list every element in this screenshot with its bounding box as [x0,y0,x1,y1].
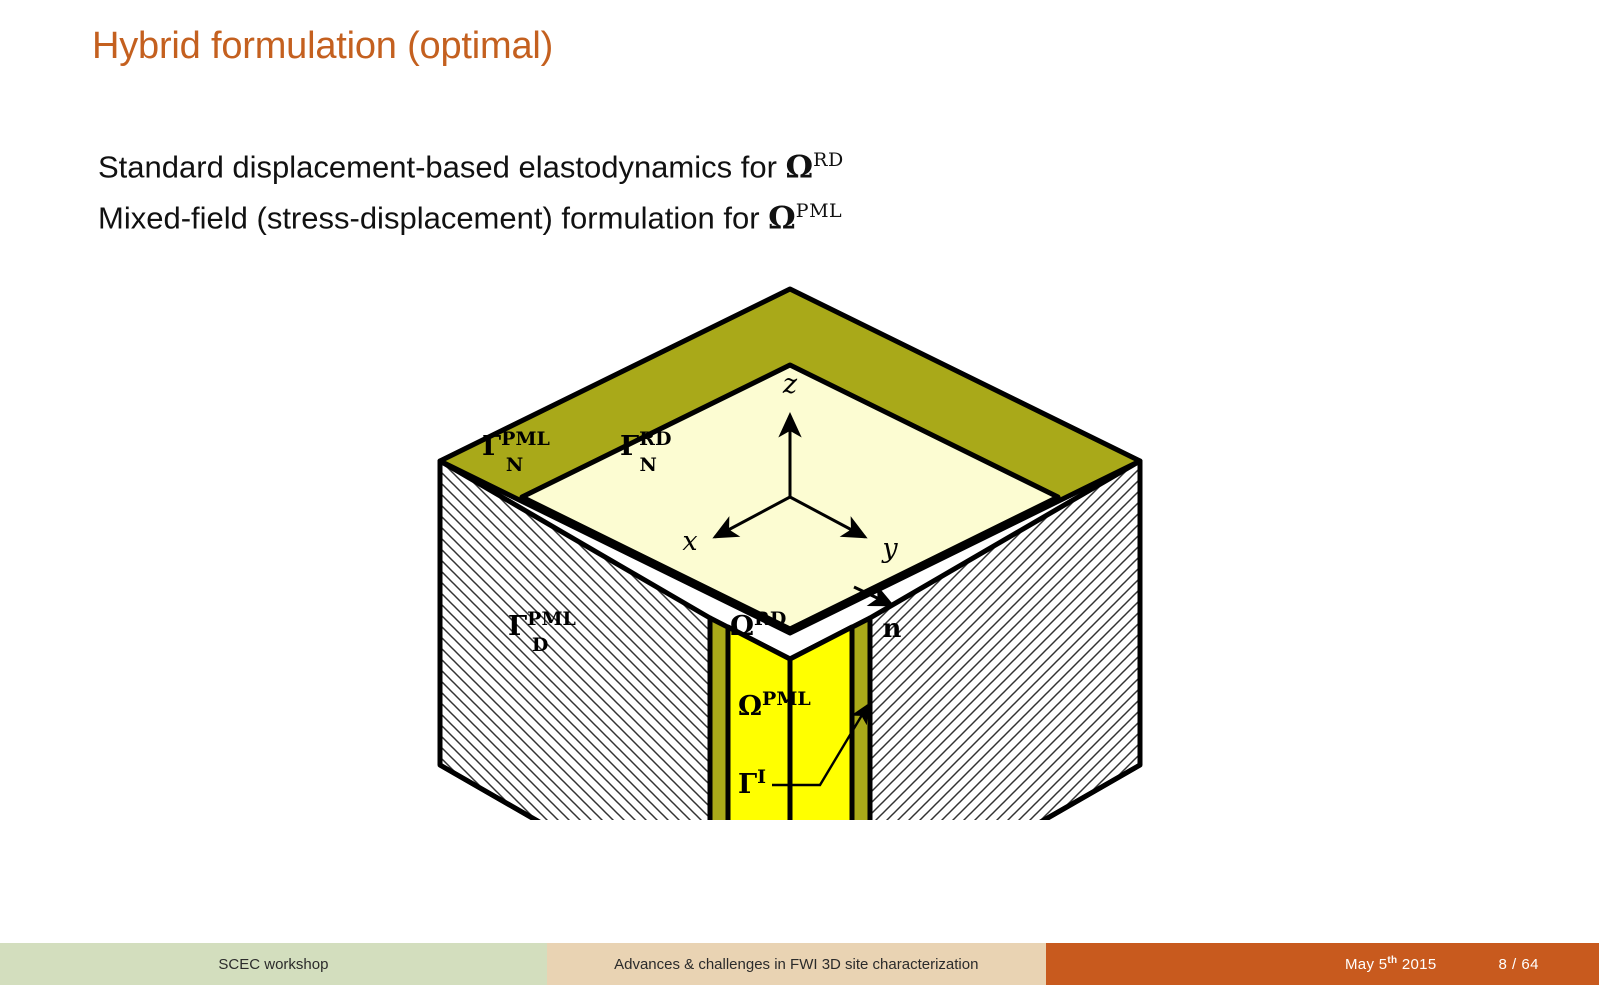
label-omega-pml-sup: PML [762,688,811,710]
body-text-block: Standard displacement-based elastodynami… [98,138,844,241]
pml-cube-figure: z x y n ΓPMLN ΓRDN [420,275,1160,820]
body-line-1-text: Standard displacement-based elastodynami… [98,149,786,184]
label-omega-pml-base: Ω [738,691,762,722]
label-gamma-pml-n-base: Γ [482,431,501,462]
footer-date-ordinal: th [1387,955,1397,966]
body-line-1: Standard displacement-based elastodynami… [98,138,844,189]
label-gamma-pml-n-sup: PML [501,428,550,450]
label-omega-rd-group: ΩRD [730,608,786,642]
footer-page-number: 8 / 64 [1498,956,1539,973]
label-omega-rd-sup: RD [754,608,786,630]
body-line-2-text: Mixed-field (stress-displacement) formul… [98,201,768,236]
slide-footer: SCEC workshop Advances & challenges in F… [0,943,1599,985]
slide-root: Hybrid formulation (optimal) Standard di… [0,0,1599,985]
label-gamma-i-sup: I [757,766,766,788]
label-gamma-rd-n-sub: N [639,454,656,476]
axis-label-x: x [682,526,697,557]
label-gamma-rd-n-base: Γ [620,431,639,462]
footer-meta: May 5th 2015 8 / 64 [1046,943,1599,985]
label-gamma-pml-d-sup: PML [527,608,576,630]
omega-symbol-rd: Ω [786,149,814,185]
footer-date-year: 2015 [1397,956,1436,973]
svg-text:ΩRD: ΩRD [730,608,786,642]
axis-label-y: y [881,533,898,564]
label-gamma-i-base: Γ [738,769,757,800]
footer-date: May 5th 2015 [1345,955,1436,973]
page-title: Hybrid formulation (optimal) [92,25,553,68]
omega-rd-right-inner-wall [790,627,852,820]
pml-cube-diagram: z x y n ΓPMLN ΓRDN [420,275,1160,820]
label-gamma-rd-n-sup: RD [639,428,671,450]
label-gamma-pml-n-sub: N [506,454,523,476]
footer-venue: SCEC workshop [0,943,547,985]
omega-superscript-pml: PML [796,200,842,222]
label-gamma-pml-d-base: Γ [508,611,527,642]
omega-superscript-rd: RD [813,149,844,171]
footer-date-pre: May 5 [1345,956,1387,973]
footer-talk-title: Advances & challenges in FWI 3D site cha… [547,943,1046,985]
body-line-2: Mixed-field (stress-displacement) formul… [98,189,844,240]
omega-symbol-pml: Ω [768,201,796,237]
notch-cutaway-group [710,618,870,820]
normal-vector-label: n [883,614,902,644]
label-gamma-pml-d-sub: D [532,634,548,656]
axis-label-z: z [782,369,798,400]
label-omega-rd-base: Ω [730,611,754,642]
